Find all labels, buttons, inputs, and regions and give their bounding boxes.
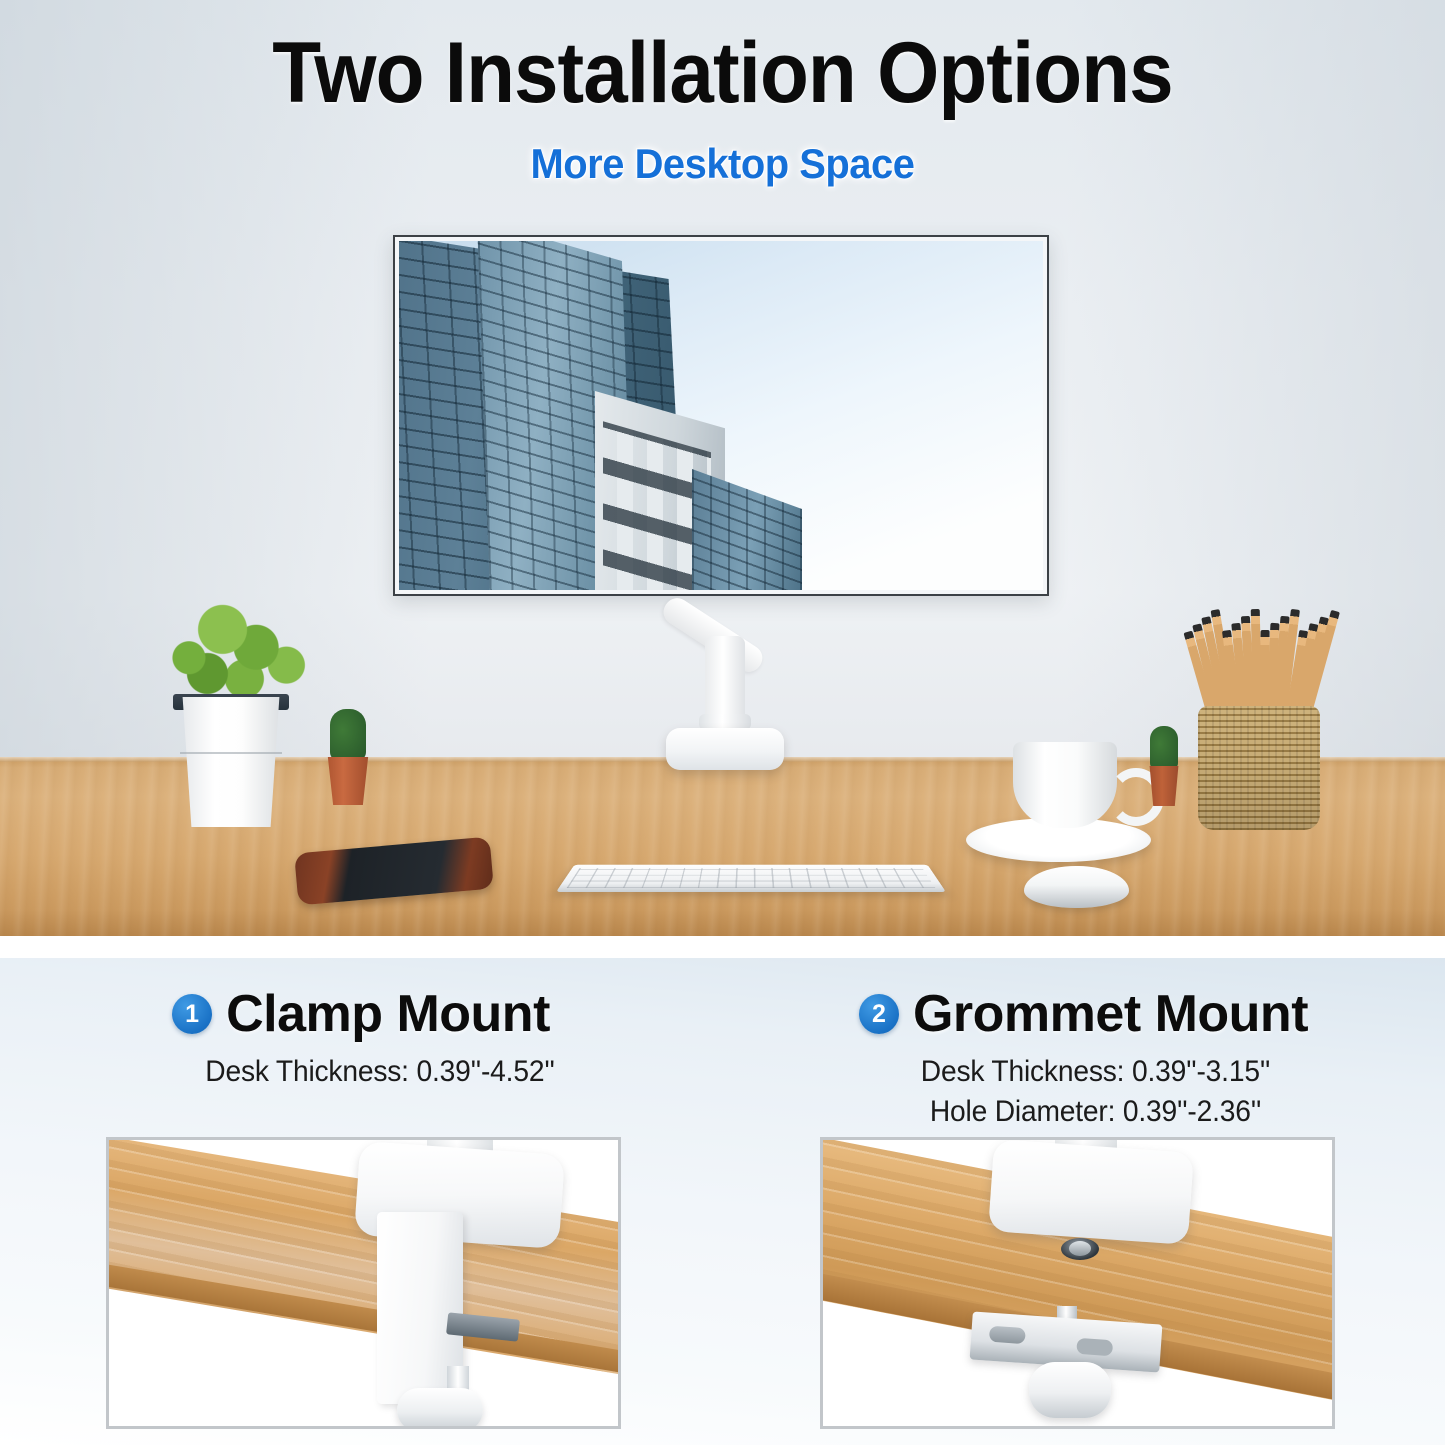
monitor-arm-post: [705, 636, 745, 718]
small-cactus: [1150, 726, 1178, 770]
clamp-mount-title: Clamp Mount: [226, 984, 550, 1044]
grommet-desk-thickness: Desk Thickness: 0.39''-3.15'': [767, 1052, 1424, 1092]
keyboard: [556, 865, 946, 892]
mouse: [1024, 866, 1129, 908]
coffee-cup: [1013, 742, 1117, 828]
clamp-mount-photo: [106, 1137, 621, 1429]
clamp-desk-thickness: Desk Thickness: 0.39''-4.52'': [59, 1052, 702, 1092]
grommet-hole-diameter: Hole Diameter: 0.39''-2.36'': [767, 1092, 1424, 1132]
grommet-specs: Desk Thickness: 0.39''-3.15'' Hole Diame…: [722, 1052, 1445, 1132]
hero-section: Two Installation Options More Desktop Sp…: [0, 0, 1445, 936]
page-subtitle: More Desktop Space: [36, 140, 1409, 188]
grommet-mount-title: Grommet Mount: [913, 984, 1308, 1044]
clamp-specs: Desk Thickness: 0.39''-4.52'': [0, 1052, 722, 1092]
grommet-mount-photo: [820, 1137, 1335, 1429]
monitor: [393, 235, 1049, 596]
page-title: Two Installation Options: [51, 24, 1395, 123]
white-bucket-planter: [176, 697, 286, 827]
infographic-page: Two Installation Options More Desktop Sp…: [0, 0, 1445, 1445]
monitor-screen: [399, 241, 1043, 590]
option-number-badge-2: 2: [859, 994, 899, 1034]
grommet-base-plate: [988, 1139, 1194, 1245]
grommet-tightening-knob: [1029, 1362, 1111, 1418]
cactus-plant: [330, 709, 366, 761]
grommet-heading-row: 2 Grommet Mount: [722, 984, 1445, 1044]
woven-pencil-basket: [1198, 706, 1320, 830]
bucket-band: [180, 752, 282, 754]
option-number-badge-1: 1: [172, 994, 212, 1034]
grommet-bolt-thread: [1069, 1241, 1091, 1256]
monitor-arm-base: [666, 728, 784, 770]
potted-plant-foliage: [152, 600, 320, 705]
clamp-tightening-knob: [397, 1388, 483, 1429]
clamp-heading-row: 1 Clamp Mount: [0, 984, 722, 1044]
section-divider: [0, 936, 1445, 958]
